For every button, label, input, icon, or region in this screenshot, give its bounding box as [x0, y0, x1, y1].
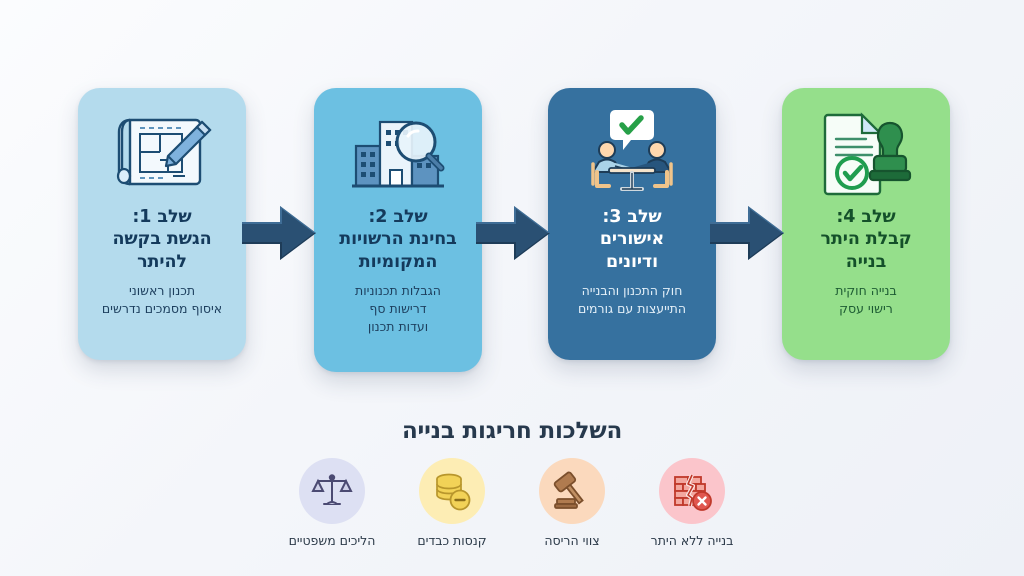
stage-card-4: שלב 4: קבלת היתר בנייה בנייה חוקית רישוי…	[782, 88, 950, 360]
stage-card-2: שלב 2: בחינת הרשויות המקומיות הגבלות תכנ…	[314, 88, 482, 372]
stage-card-3: שלב 3: אישורים ודיונים חוק התכנון והבניי…	[548, 88, 716, 360]
consequence-label: קנסות כבדים	[417, 533, 486, 548]
stage-title: שלב 2: בחינת הרשויות המקומיות	[339, 206, 456, 273]
infographic-canvas: שלב 1: הגשת בקשה להיתר תכנון ראשוני איסו…	[0, 0, 1024, 576]
stage-subtitle: בנייה חוקית רישוי עסק	[835, 282, 896, 318]
consequence-item-illegal-construction: בנייה ללא היתר	[642, 458, 742, 548]
approved-document-stamp-icon	[812, 106, 920, 198]
stage-subtitle: חוק התכנון והבנייה התייעצות עם גורמים	[578, 282, 686, 318]
consequence-label: בנייה ללא היתר	[651, 533, 734, 548]
broken-brick-wall-x-icon	[659, 458, 725, 524]
consequence-item-demolition-orders: צווי הריסה	[522, 458, 622, 548]
stage-title: שלב 3: אישורים ודיונים	[600, 206, 664, 273]
consequence-item-heavy-fines: קנסות כבדים	[402, 458, 502, 548]
permit-process-flow: שלב 1: הגשת בקשה להיתר תכנון ראשוני איסו…	[0, 88, 1024, 388]
consequences-heading: השלכות חריגות בנייה	[0, 418, 1024, 444]
right-arrow-icon-3	[706, 200, 790, 266]
stage-title: שלב 1: הגשת בקשה להיתר	[112, 206, 211, 273]
right-arrow-icon-1	[238, 200, 322, 266]
right-arrow-icon-2	[472, 200, 556, 266]
stage-card-1: שלב 1: הגשת בקשה להיתר תכנון ראשוני איסו…	[78, 88, 246, 360]
blueprint-pencil-icon	[110, 106, 214, 198]
meeting-approval-icon	[577, 106, 687, 198]
consequence-label: הליכים משפטיים	[289, 533, 376, 548]
consequences-list: בנייה ללא היתר צווי הריסה	[0, 458, 1024, 548]
coins-minus-icon	[419, 458, 485, 524]
buildings-magnifier-icon	[346, 106, 450, 198]
stage-subtitle: הגבלות תכנוניות דרישות סף ועדות תכנון	[355, 282, 441, 336]
consequence-item-legal-proceedings: הליכים משפטיים	[282, 458, 382, 548]
stage-subtitle: תכנון ראשוני איסוף מסמכים נדרשים	[102, 282, 222, 318]
consequences-section: השלכות חריגות בנייה	[0, 418, 1024, 548]
consequence-label: צווי הריסה	[544, 533, 599, 548]
stage-title: שלב 4: קבלת היתר בנייה	[821, 206, 912, 273]
scales-of-justice-icon	[299, 458, 365, 524]
gavel-icon	[539, 458, 605, 524]
